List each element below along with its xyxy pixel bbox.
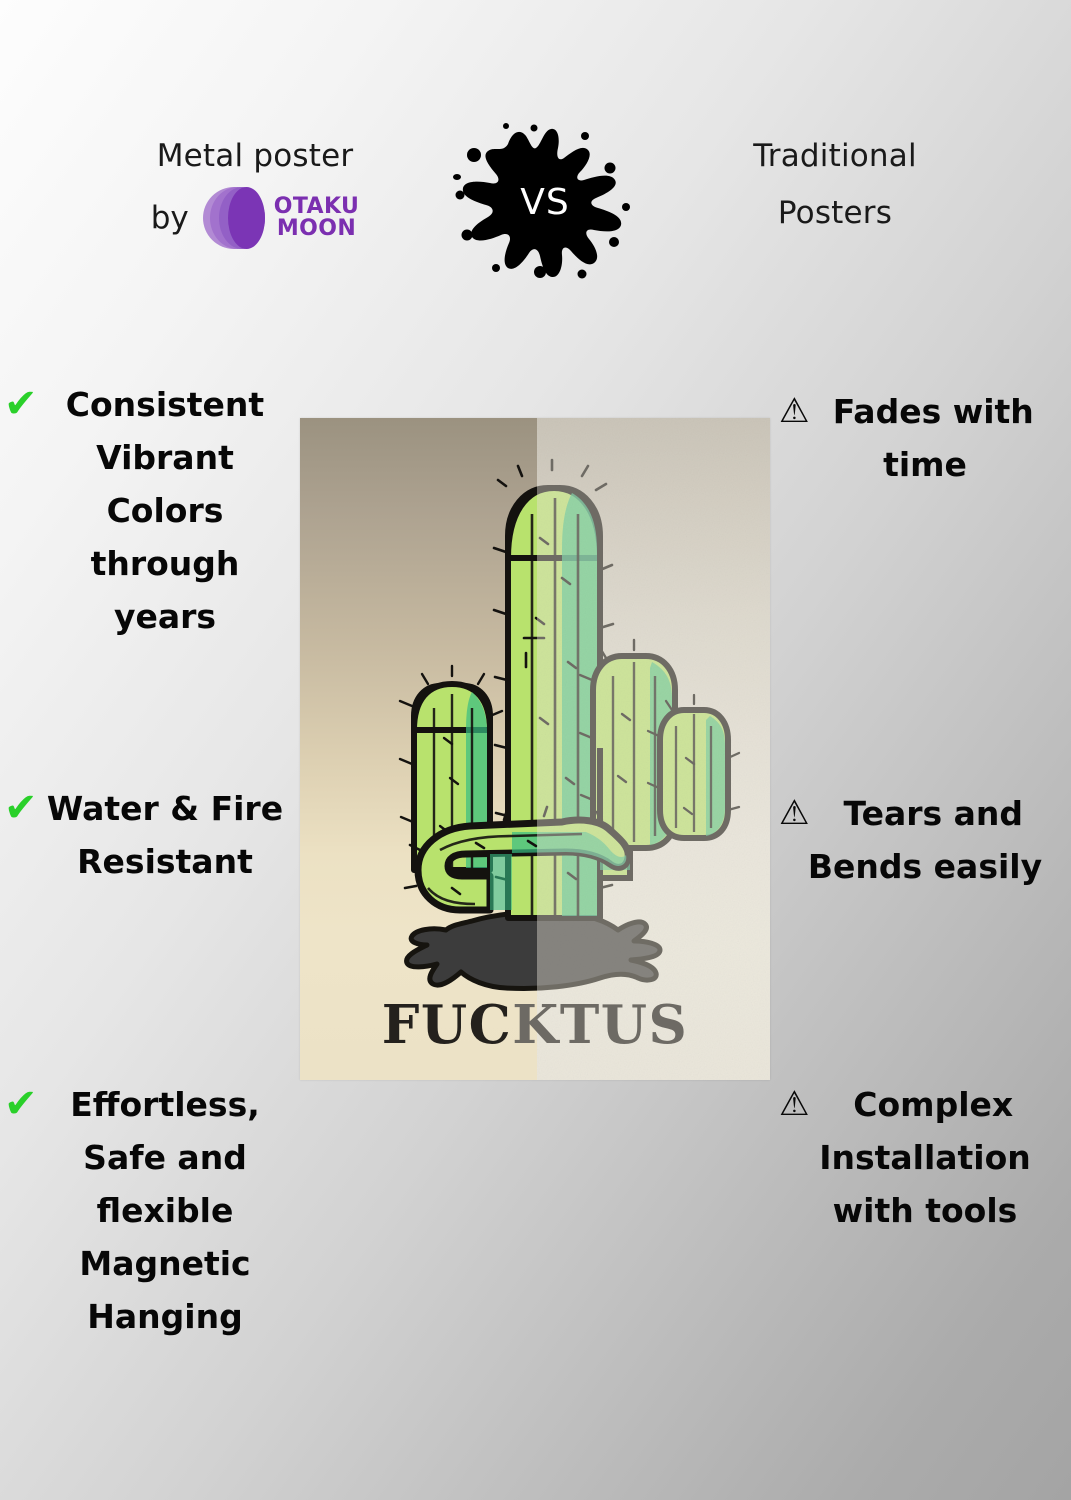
traditional-poster-heading: Traditional Posters	[640, 128, 1030, 242]
check-icon: ✔	[4, 1078, 38, 1131]
paper-grain-texture	[537, 418, 770, 1080]
warning-triangle-icon: ⚠	[779, 787, 809, 840]
con-item-2-label: Tears and Bends easily	[808, 794, 1042, 886]
pro-item-3-label: Effortless, Safe and flexible Magnetic H…	[70, 1085, 260, 1336]
metal-poster-title: Metal poster	[60, 128, 450, 185]
warning-triangle-icon: ⚠	[779, 1078, 809, 1131]
pro-item-1: ✔Consistent Vibrant Colors through years	[0, 378, 300, 643]
traditional-poster-title-line2: Posters	[640, 185, 1030, 242]
vs-splat-badge: VS	[448, 122, 638, 282]
otaku-moon-wordmark: OTAKU MOON	[274, 196, 360, 241]
traditional-poster-title-line1: Traditional	[640, 128, 1030, 185]
warning-triangle-icon: ⚠	[779, 385, 809, 438]
poster-comparison-image: FUCKTUS	[300, 418, 770, 1080]
poster-title-faded-part: KTUS	[512, 994, 688, 1056]
by-label: by	[151, 200, 189, 236]
con-item-1-label: Fades with time	[833, 392, 1034, 484]
brand-line-1: OTAKU	[274, 196, 360, 218]
con-item-3-label: Complex Installation with tools	[819, 1085, 1031, 1230]
check-icon: ✔	[4, 782, 38, 835]
con-item-1: ⚠Fades with time	[771, 385, 1071, 491]
brand-line-2: MOON	[274, 218, 360, 240]
pro-item-2-label: Water & Fire Resistant	[47, 789, 283, 881]
pro-item-3: ✔Effortless, Safe and flexible Magnetic …	[0, 1078, 300, 1343]
pro-item-2: ✔Water & Fire Resistant	[0, 782, 300, 888]
moon-circle-icon	[203, 187, 265, 249]
otaku-moon-logo: OTAKU MOON	[203, 187, 360, 249]
check-icon: ✔	[4, 378, 38, 431]
con-item-2: ⚠Tears and Bends easily	[771, 787, 1071, 893]
poster-title: FUCKTUS	[300, 994, 770, 1056]
comparison-header: Metal poster by OTAKU MOON	[0, 128, 1071, 268]
vs-label: VS	[448, 122, 638, 282]
metal-poster-heading: Metal poster by OTAKU MOON	[60, 128, 450, 249]
pro-item-1-label: Consistent Vibrant Colors through years	[66, 385, 264, 636]
brand-attribution: by OTAKU MOON	[60, 187, 450, 249]
con-item-3: ⚠Complex Installation with tools	[771, 1078, 1071, 1237]
poster-title-vibrant-part: FUC	[382, 994, 513, 1056]
